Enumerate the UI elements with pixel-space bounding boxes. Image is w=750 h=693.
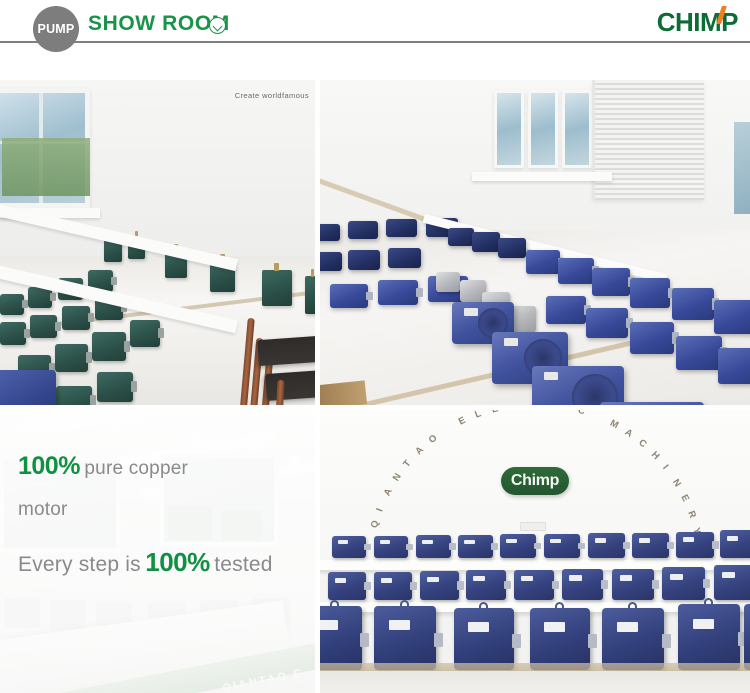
motor-lifting-hook <box>704 598 713 605</box>
motor-unit <box>718 348 750 384</box>
motor-unit <box>448 228 474 246</box>
chimp-brand-text: CHIMP <box>657 9 738 35</box>
arch-letter: M <box>608 418 620 431</box>
motor-unit <box>714 300 750 334</box>
arch-letter <box>441 425 449 436</box>
motor-nameplate <box>693 619 714 630</box>
motor-nameplate <box>427 577 439 582</box>
motor-unit <box>546 296 586 324</box>
motor-unit <box>458 535 493 558</box>
arch-letter: H <box>649 449 662 462</box>
motor-unit <box>55 344 88 372</box>
motor-nameplate <box>380 540 390 544</box>
side-window-glass <box>734 122 750 214</box>
motor-nameplate <box>521 576 533 581</box>
motor-unit <box>320 224 340 241</box>
overlay-text-3-suffix: tested <box>214 553 272 576</box>
large-motor-unit <box>320 606 362 670</box>
overlay-line-3: Every step is 100% tested <box>18 547 308 578</box>
arch-letter <box>593 410 599 421</box>
chair-seat <box>265 370 315 401</box>
motor-unit <box>586 308 628 338</box>
arch-letter: L <box>473 410 482 421</box>
window-frame <box>528 90 558 168</box>
large-motor-unit <box>454 608 514 670</box>
motor-unit <box>330 284 368 308</box>
motor-unit <box>374 536 408 558</box>
motor-nameplate <box>683 537 694 542</box>
motor-lifting-hook <box>330 600 339 607</box>
motor-unit <box>514 570 554 600</box>
motor-unit <box>676 532 714 558</box>
overlay-percent-3: 100% <box>145 547 210 577</box>
chimp-wall-image: QIANTAO ELECTRIC MACHINERY Chimp <box>320 410 750 693</box>
motor-unit <box>662 567 705 600</box>
arch-letter: C <box>577 410 586 417</box>
arch-letter: I <box>660 463 670 472</box>
motor-nameplate <box>335 578 346 583</box>
large-motor-unit <box>530 608 590 670</box>
motor-unit <box>588 533 625 558</box>
large-motor-unit <box>678 604 740 670</box>
motor-unit <box>544 534 580 558</box>
motor-nameplate <box>468 622 488 632</box>
motor-unit <box>374 572 412 600</box>
arch-letter: A <box>623 427 635 440</box>
motor-unit <box>676 336 722 370</box>
motor-unit <box>332 536 366 558</box>
motor-nameplate <box>569 575 581 581</box>
overlay-text-2: motor <box>18 499 68 520</box>
arch-letter: I <box>374 507 385 513</box>
motor-unit <box>0 294 24 315</box>
window-sill <box>472 172 612 181</box>
motor-nameplate <box>504 338 518 346</box>
motor-unit <box>305 276 315 314</box>
arch-letter: I <box>560 410 564 412</box>
motor-nameplate <box>320 620 338 630</box>
floor-surface <box>320 671 750 693</box>
motor-nameplate <box>727 536 738 541</box>
arch-letter: T <box>401 458 413 469</box>
header-divider <box>0 41 750 43</box>
large-motor-unit <box>744 604 750 670</box>
showroom-green-motors-photo[interactable]: Create worldfamous <box>0 80 315 405</box>
motor-unit <box>62 306 90 330</box>
meeting-room-image: QIANTAO E 100% pure copper motor Every s… <box>0 410 315 693</box>
motor-fan-cover <box>572 374 618 405</box>
motor-unit <box>630 322 674 354</box>
arch-letter: R <box>543 410 550 411</box>
motor-unit <box>714 565 750 600</box>
showroom-blue-motors-photo[interactable] <box>320 80 750 405</box>
motor-unit <box>388 248 421 268</box>
motor-unit <box>630 278 670 308</box>
motor-unit <box>558 258 594 284</box>
overlay-text-1: pure copper <box>84 458 188 479</box>
motor-nameplate <box>595 538 606 543</box>
motor-unit <box>92 332 126 361</box>
motor-nameplate <box>544 372 558 380</box>
chevron-down-circle-icon[interactable] <box>209 17 226 34</box>
photo-gallery: Create worldfamous <box>0 80 750 693</box>
motor-unit <box>30 315 57 338</box>
arch-letter: A <box>382 487 395 498</box>
motor-lifting-hook <box>400 600 409 607</box>
silver-motor-unit <box>436 272 460 292</box>
motor-unit <box>262 270 292 306</box>
motor-nameplate <box>473 576 485 581</box>
chair-seat <box>257 336 315 366</box>
overlay-percent-1: 100% <box>18 452 80 480</box>
motor-unit <box>378 280 418 305</box>
motor-unit <box>562 569 603 600</box>
overlay-line-2: motor <box>18 499 308 521</box>
arch-letter: E <box>490 410 499 415</box>
arch-letter: N <box>670 477 683 489</box>
motor-unit <box>500 534 536 558</box>
motor-lifting-hook <box>628 602 637 609</box>
motor-unit <box>472 232 500 252</box>
overlay-text-3-prefix: Every step is <box>18 553 141 576</box>
chimp-brand-logo: CHIMP <box>657 9 738 35</box>
motor-unit <box>328 572 366 600</box>
pump-logo-badge: PUMP <box>33 6 79 52</box>
arch-letter: R <box>685 509 698 519</box>
blue-motors-image <box>320 80 750 405</box>
floor-wood-panel <box>320 380 367 405</box>
motor-unit <box>386 219 417 237</box>
motor-nameplate <box>620 575 633 581</box>
motor-nameplate <box>338 540 348 544</box>
window-frame <box>562 90 592 168</box>
large-motor-unit <box>600 402 704 405</box>
chimp-wall-logo-label: Chimp <box>511 472 559 490</box>
wall-small-sign <box>520 522 546 531</box>
motor-unit <box>348 221 378 239</box>
wall-slogan-text: Create worldfamous <box>235 91 309 100</box>
motor-unit <box>612 569 654 600</box>
motor-lifting-hook <box>479 602 488 609</box>
arch-letter: E <box>678 493 691 504</box>
arch-letter: E <box>457 415 468 428</box>
motor-nameplate <box>464 308 478 316</box>
motor-unit <box>348 250 380 270</box>
green-motors-image: Create worldfamous <box>0 80 315 405</box>
motor-nameplate <box>544 622 564 632</box>
blue-motor-unit <box>0 370 56 405</box>
motor-nameplate <box>506 539 517 543</box>
arch-letter: Q <box>369 519 382 529</box>
motor-unit <box>320 252 342 271</box>
motor-unit <box>56 386 92 405</box>
pump-logo-label: PUMP <box>38 23 75 36</box>
motor-nameplate <box>550 539 561 543</box>
motor-unit <box>97 372 133 402</box>
motor-nameplate <box>422 540 433 544</box>
motor-nameplate <box>722 572 735 578</box>
chimp-display-wall-photo[interactable]: QIANTAO ELECTRIC MACHINERY Chimp <box>320 410 750 693</box>
arch-letter: O <box>427 433 440 446</box>
large-motor-unit <box>374 606 436 670</box>
arch-letter: C <box>636 437 648 450</box>
arch-letter: A <box>413 445 426 458</box>
motor-unit <box>526 250 560 274</box>
motor-unit <box>672 288 714 320</box>
arch-letter: N <box>391 472 404 484</box>
motor-unit <box>130 320 160 347</box>
overlay-line-1: 100% pure copper <box>18 452 308 481</box>
motor-nameplate <box>639 538 650 543</box>
motor-lifting-hook <box>555 602 564 609</box>
motor-unit <box>592 268 630 296</box>
chimp-wall-logo: Chimp <box>501 467 569 495</box>
window-foliage <box>2 138 90 196</box>
meeting-room-quality-photo[interactable]: QIANTAO E 100% pure copper motor Every s… <box>0 410 315 693</box>
motor-nameplate <box>617 622 638 632</box>
motor-unit <box>498 238 526 258</box>
motor-nameplate <box>389 620 410 630</box>
motor-unit <box>632 533 669 558</box>
quality-overlay-text: 100% pure copper motor Every step is 100… <box>18 452 308 596</box>
showroom-page: PUMP SHOW ROOM CHIMP Create worldfamous <box>0 0 750 693</box>
large-motor-unit <box>532 366 624 405</box>
arch-letter: C <box>508 410 517 412</box>
motor-nameplate <box>464 540 475 544</box>
motor-unit <box>420 571 459 600</box>
page-header: PUMP SHOW ROOM CHIMP <box>0 0 750 80</box>
window-blinds <box>592 80 704 200</box>
window-frame <box>494 90 524 168</box>
motor-nameplate <box>670 574 683 580</box>
motor-unit <box>0 322 26 345</box>
motor-unit <box>720 530 750 558</box>
motor-nameplate <box>381 578 392 583</box>
large-motor-unit <box>602 608 664 670</box>
motor-unit <box>416 535 451 558</box>
motor-unit <box>466 570 506 600</box>
